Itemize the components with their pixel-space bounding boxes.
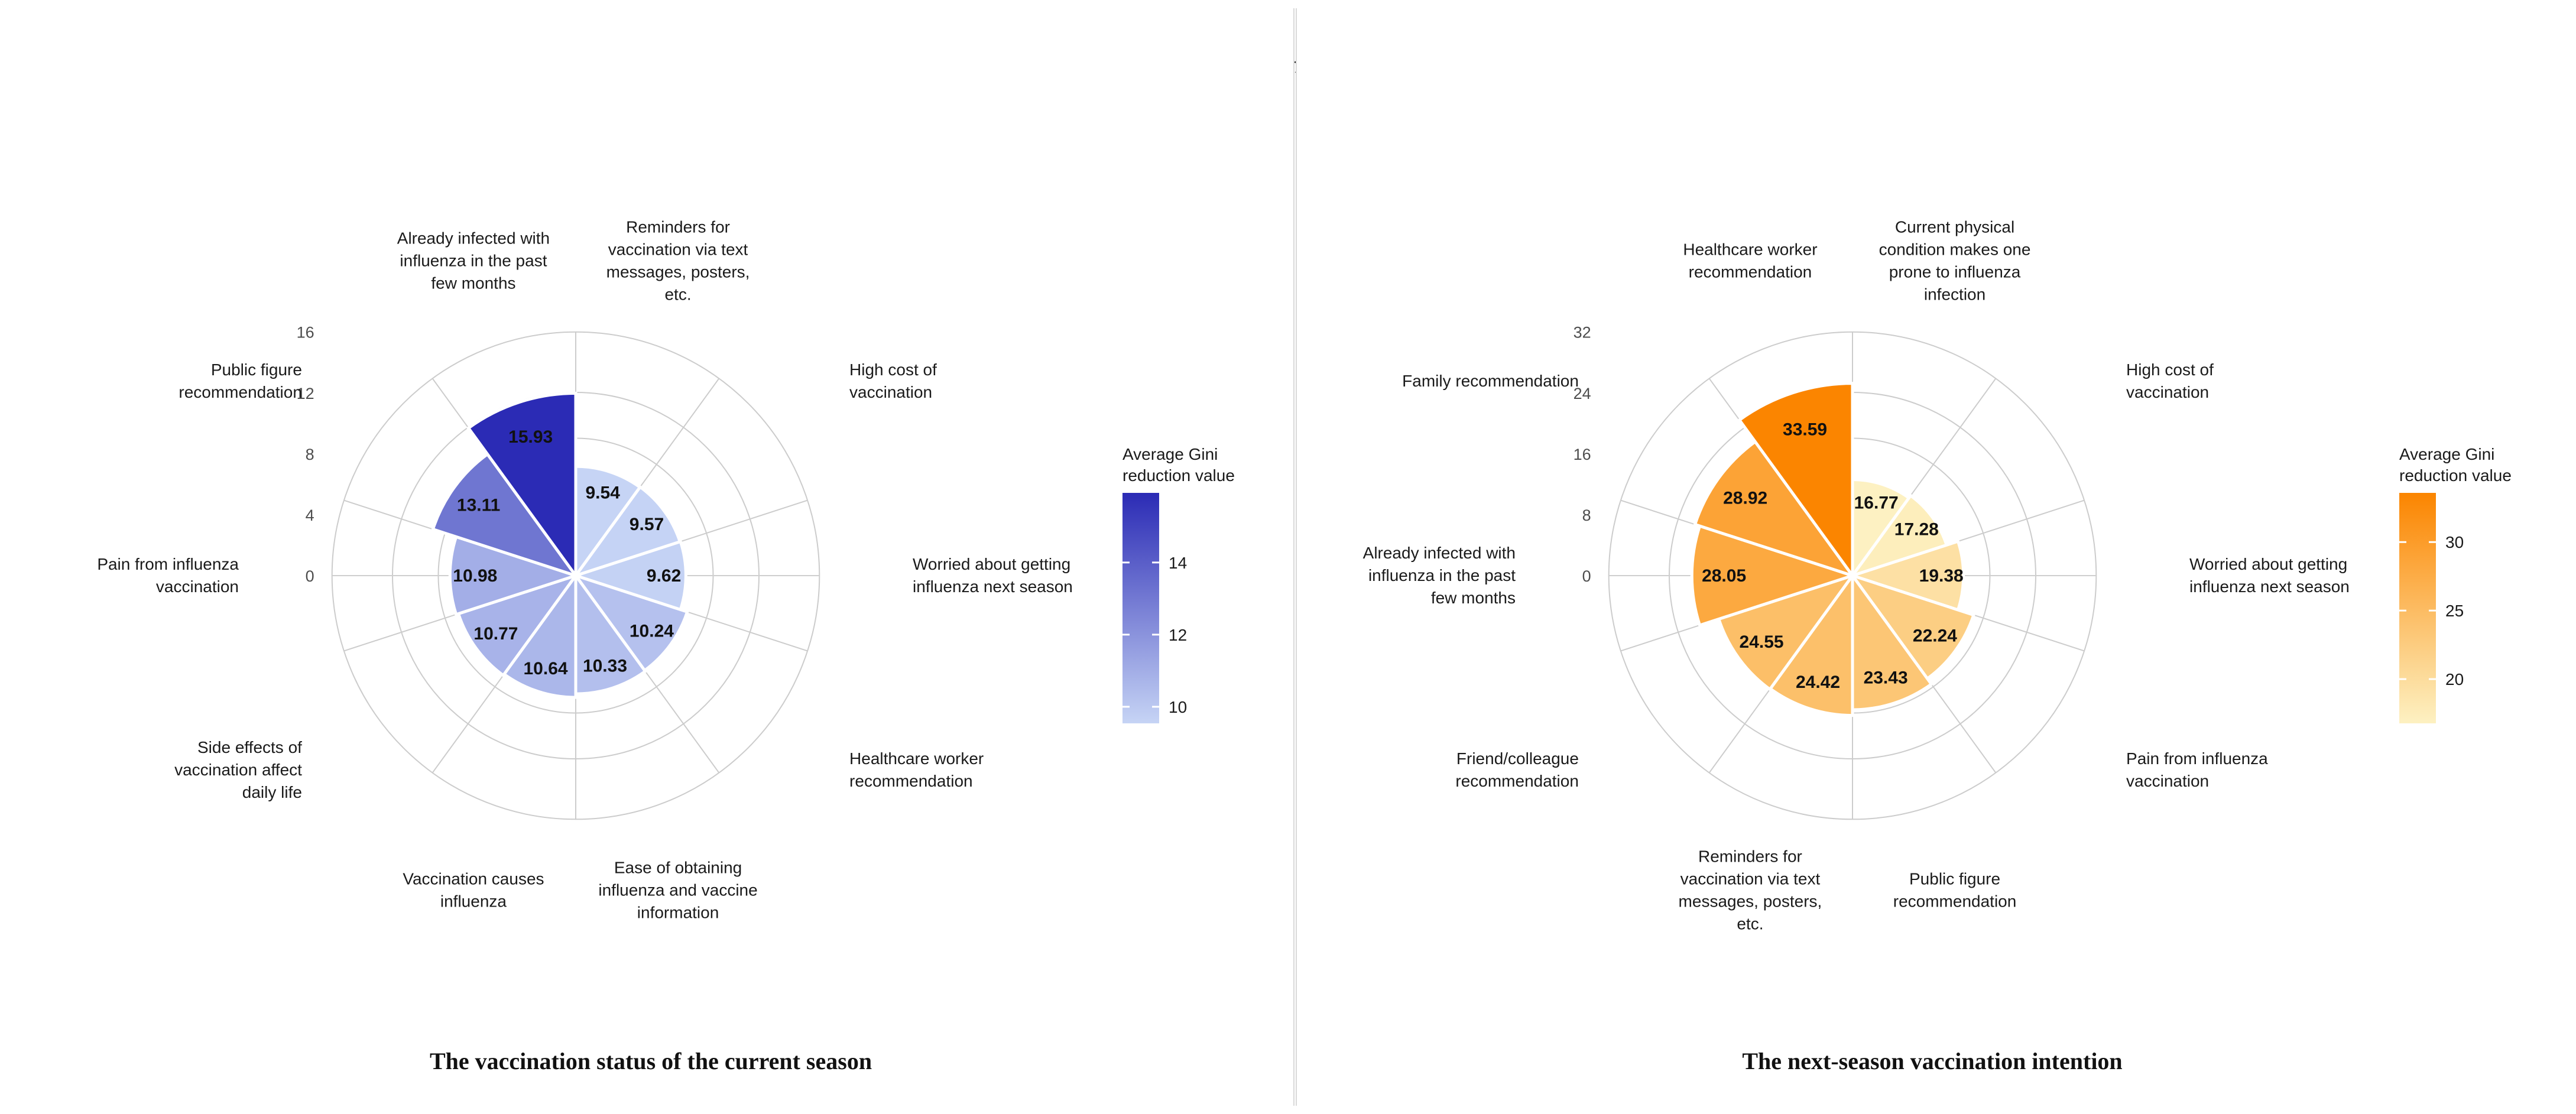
category-label-line: condition makes one bbox=[1879, 240, 2031, 258]
wedge-value-label: 28.05 bbox=[1702, 566, 1746, 586]
category-label-line: vaccination via text bbox=[608, 240, 748, 258]
category-label: Pain from influenzavaccination bbox=[2126, 749, 2268, 790]
category-label-line: Vaccination causes bbox=[403, 870, 544, 888]
category-label-line: infection bbox=[1924, 285, 1985, 303]
wedge-group bbox=[433, 393, 687, 697]
category-label-line: Healthcare worker bbox=[849, 749, 984, 768]
wedge-value-label: 23.43 bbox=[1864, 668, 1908, 688]
radial-tick-label: 32 bbox=[1573, 324, 1591, 342]
category-label-line: prone to influenza bbox=[1889, 262, 2021, 281]
wedge-value-label: 28.92 bbox=[1723, 488, 1767, 508]
category-label: Reminders forvaccination via textmessage… bbox=[606, 217, 750, 303]
colorbar-tick-label: 10 bbox=[1169, 698, 1187, 716]
category-label-line: Reminders for bbox=[1698, 847, 1802, 866]
category-label: Reminders forvaccination via textmessage… bbox=[1679, 847, 1822, 933]
category-label-line: information bbox=[637, 904, 719, 922]
category-label-line: Already infected with bbox=[397, 229, 550, 247]
radial-tick-label: 0 bbox=[306, 567, 314, 585]
category-label: High cost ofvaccination bbox=[849, 360, 937, 401]
category-label-line: recommendation bbox=[1893, 892, 2017, 911]
wedge-value-label: 17.28 bbox=[1894, 519, 1939, 539]
category-label: Already infected withinfluenza in the pa… bbox=[397, 229, 550, 292]
category-label: Healthcare workerrecommendation bbox=[849, 749, 984, 790]
wedge-value-label: 24.55 bbox=[1740, 632, 1784, 652]
category-label-line: Family recommendation bbox=[1402, 372, 1579, 390]
wedge-group bbox=[1692, 384, 1974, 716]
wedge-value-label: 19.38 bbox=[1919, 566, 1964, 586]
category-label-line: daily life bbox=[242, 783, 302, 801]
colorbar-tick-label: 12 bbox=[1169, 626, 1187, 644]
category-label: Ease of obtaininginfluenza and vaccinein… bbox=[598, 859, 757, 922]
category-label-line: vaccination via text bbox=[1680, 870, 1821, 888]
category-label-line: etc. bbox=[664, 285, 691, 303]
colorbar-title-line2: reduction value bbox=[1122, 466, 1235, 485]
wedge-value-label: 9.54 bbox=[585, 483, 620, 502]
category-label-line: influenza and vaccine bbox=[598, 881, 757, 899]
colorbar-gradient bbox=[1122, 493, 1159, 723]
wedge-value-label: 10.64 bbox=[523, 659, 567, 678]
category-label-line: vaccination bbox=[849, 383, 932, 401]
category-label: Pain from influenzavaccination bbox=[97, 555, 239, 596]
category-label: Friend/colleaguerecommendation bbox=[1455, 749, 1579, 790]
wedge-value-label: 10.33 bbox=[583, 656, 627, 675]
category-label-line: Worried about getting bbox=[2189, 555, 2347, 573]
category-label-line: High cost of bbox=[2126, 360, 2214, 379]
category-label-line: vaccination affect bbox=[174, 761, 302, 779]
category-label-line: vaccination bbox=[156, 577, 239, 596]
category-label-line: etc. bbox=[1737, 915, 1763, 933]
colorbar-tick-label: 20 bbox=[2445, 670, 2464, 688]
wedge-value-label: 13.11 bbox=[457, 496, 500, 515]
category-label: Worried about gettinginfluenza next seas… bbox=[913, 555, 1073, 596]
wedge-value-label: 9.62 bbox=[647, 566, 681, 586]
figure-root: Influencing Factors Evaluated by Random … bbox=[0, 0, 2576, 1114]
category-label-line: messages, posters, bbox=[606, 262, 750, 281]
category-label-line: messages, posters, bbox=[1679, 892, 1822, 911]
category-label-line: influenza in the past bbox=[400, 251, 547, 269]
category-label-line: Ease of obtaining bbox=[614, 859, 742, 877]
category-label-line: Worried about getting bbox=[913, 555, 1070, 573]
category-label: Healthcare workerrecommendation bbox=[1683, 240, 1817, 281]
radial-tick-label: 16 bbox=[297, 324, 314, 342]
polar-chart-right: 16.7717.2819.3822.2423.4324.4224.5528.05… bbox=[1297, 8, 2569, 1106]
category-label: Family recommendation bbox=[1402, 372, 1579, 390]
category-label-line: Side effects of bbox=[197, 738, 302, 756]
category-label-line: vaccination bbox=[2126, 772, 2209, 790]
wedge-value-label: 10.77 bbox=[473, 624, 518, 644]
colorbar-tick-label: 25 bbox=[2445, 602, 2464, 620]
wedge-value-label: 24.42 bbox=[1796, 673, 1840, 692]
category-label-line: Reminders for bbox=[626, 217, 730, 236]
wedge-value-label: 15.93 bbox=[508, 427, 553, 447]
category-label-line: few months bbox=[431, 274, 515, 292]
radial-tick-label: 8 bbox=[306, 446, 314, 463]
category-label-line: influenza in the past bbox=[1368, 566, 1516, 584]
wedge-value-label: 22.24 bbox=[1913, 626, 1957, 645]
category-label-line: Pain from influenza bbox=[2126, 749, 2268, 768]
polar-chart-left: 9.549.579.6210.2410.3310.6410.7710.9813.… bbox=[8, 8, 1295, 1106]
panel-left: 9.549.579.6210.2410.3310.6410.7710.9813.… bbox=[8, 8, 1295, 1106]
wedge-value-label: 16.77 bbox=[1854, 493, 1899, 512]
category-label: Public figurerecommendation bbox=[1893, 870, 2017, 911]
category-label-line: High cost of bbox=[849, 360, 937, 379]
radial-tick-label: 4 bbox=[306, 506, 314, 524]
colorbar-tick-label: 14 bbox=[1169, 554, 1187, 572]
radial-tick-group: 08162432 bbox=[1573, 324, 1591, 585]
wedge-value-label: 10.24 bbox=[630, 621, 674, 641]
radial-tick-label: 8 bbox=[1582, 506, 1591, 524]
category-label: Worried about gettinginfluenza next seas… bbox=[2189, 555, 2350, 596]
category-label: Current physicalcondition makes oneprone… bbox=[1879, 217, 2031, 303]
category-label-line: recommendation bbox=[1689, 262, 1812, 281]
colorbar-title-line1: Average Gini bbox=[1122, 445, 1218, 463]
category-label: Already infected withinfluenza in the pa… bbox=[1363, 544, 1516, 607]
radial-tick-label: 0 bbox=[1582, 567, 1591, 585]
category-label-line: Healthcare worker bbox=[1683, 240, 1817, 258]
colorbar-title-line2: reduction value bbox=[2399, 466, 2512, 485]
category-label-line: influenza next season bbox=[2189, 577, 2350, 596]
wedge-value-label: 10.98 bbox=[453, 566, 497, 586]
category-label-line: vaccination bbox=[2126, 383, 2209, 401]
wedge-value-label: 9.57 bbox=[630, 515, 664, 534]
category-label-line: Current physical bbox=[1895, 217, 2014, 236]
panel-left-caption: The vaccination status of the current se… bbox=[8, 1047, 1293, 1075]
category-label-line: influenza bbox=[440, 892, 507, 911]
colorbar-gradient bbox=[2399, 493, 2436, 723]
panel-right: 16.7717.2819.3822.2423.4324.4224.5528.05… bbox=[1296, 8, 2568, 1106]
category-label-line: recommendation bbox=[1455, 772, 1579, 790]
category-label-line: few months bbox=[1431, 589, 1516, 607]
category-label: Vaccination causesinfluenza bbox=[403, 870, 544, 911]
category-label: High cost ofvaccination bbox=[2126, 360, 2214, 401]
category-label-line: Already infected with bbox=[1363, 544, 1516, 562]
radial-tick-label: 16 bbox=[1573, 446, 1591, 463]
colorbar: Average Ginireduction value141210 bbox=[1122, 445, 1235, 723]
category-label-line: influenza next season bbox=[913, 577, 1073, 596]
category-label: Side effects ofvaccination affectdaily l… bbox=[174, 738, 302, 801]
category-label-line: recommendation bbox=[849, 772, 973, 790]
colorbar-tick-label: 30 bbox=[2445, 533, 2464, 551]
category-label: Public figurerecommendation bbox=[179, 360, 302, 401]
category-label-line: Public figure bbox=[211, 360, 302, 379]
category-label-line: Pain from influenza bbox=[97, 555, 239, 573]
colorbar-title-line1: Average Gini bbox=[2399, 445, 2494, 463]
panel-right-caption: The next-season vaccination intention bbox=[1297, 1047, 2568, 1075]
colorbar: Average Ginireduction value302520 bbox=[2399, 445, 2512, 723]
category-label-line: Friend/colleague bbox=[1456, 749, 1579, 768]
category-label-line: Public figure bbox=[1909, 870, 2000, 888]
wedge-value-label: 33.59 bbox=[1783, 420, 1827, 439]
category-label-line: recommendation bbox=[179, 383, 302, 401]
